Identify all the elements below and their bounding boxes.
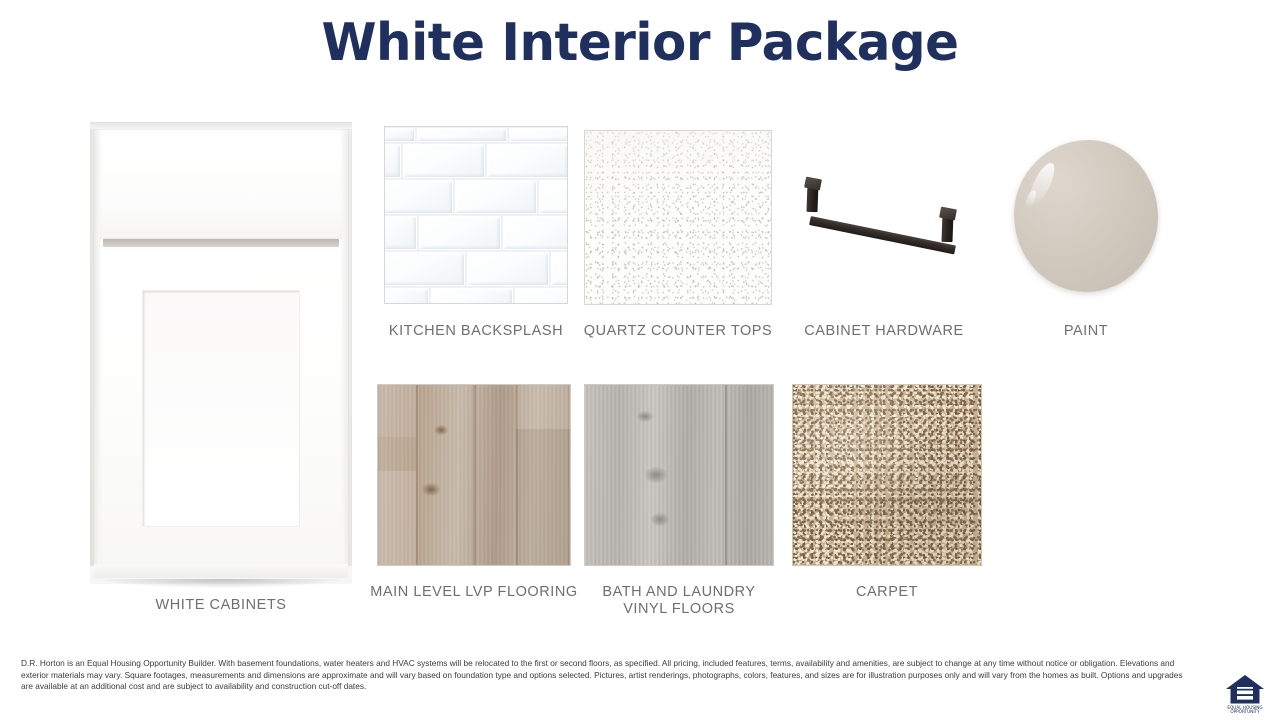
cabinet-drop-shadow (98, 579, 344, 588)
swatch-label-cabinet-hardware: CABINET HARDWARE (769, 323, 999, 340)
swatch-label-bath-and-laundry-vinyl-floors: BATH AND LAUNDRY VINYL FLOORS (564, 584, 794, 618)
pull-bar (809, 216, 956, 254)
swatch-label-quartz-counter-tops: QUARTZ COUNTER TOPS (563, 323, 793, 340)
legal-disclaimer: D.R. Horton is an Equal Housing Opportun… (21, 658, 1196, 693)
quartz-sample-image (584, 130, 772, 305)
material-swatch-board: WHITE CABINETS (0, 0, 1280, 640)
swatch-kitchen-backsplash: KITCHEN BACKSPLASH (384, 126, 568, 304)
paint-drop-image (1014, 140, 1158, 292)
carpet-image (792, 384, 982, 566)
cabinet-top-edge (90, 122, 352, 129)
quartz-sheen-overlay (585, 131, 771, 304)
swatch-paint: PAINT (1014, 140, 1158, 305)
svg-text:OPPORTUNITY: OPPORTUNITY (1230, 709, 1260, 714)
swatch-label-kitchen-backsplash: KITCHEN BACKSPLASH (361, 323, 591, 340)
swatch-quartz-counter-tops: QUARTZ COUNTER TOPS (584, 130, 772, 305)
cabinet-left-shading (90, 129, 102, 566)
vinyl-flooring-image (584, 384, 774, 566)
carpet-tone-overlay (793, 385, 981, 565)
cabinet-drawer-front (100, 134, 342, 238)
cabinet-right-shading (340, 129, 352, 566)
swatch-label-paint: PAINT (971, 323, 1201, 340)
swatch-label-carpet: CARPET (772, 584, 1002, 601)
cabinet-pull-image (798, 170, 970, 280)
swatch-cabinet-hardware: CABINET HARDWARE (798, 170, 970, 310)
cabinet-reveal-gap (103, 239, 339, 247)
vinyl-wood-texture (585, 385, 773, 565)
swatch-bath-and-laundry-vinyl-floors: BATH AND LAUNDRY VINYL FLOORS (584, 384, 774, 566)
lvp-flooring-image (377, 384, 571, 566)
equal-housing-opportunity-logo: EQUAL HOUSING OPPORTUNITY (1223, 670, 1267, 714)
swatch-label-white-cabinets: WHITE CABINETS (106, 597, 336, 614)
subway-tile-image (384, 126, 568, 304)
cabinet-toe-kick (94, 564, 348, 578)
cabinet-door-front (100, 250, 342, 572)
swatch-white-cabinets: WHITE CABINETS (90, 122, 352, 584)
white-cabinet-image (90, 122, 352, 584)
paint-drop-body (1014, 140, 1158, 292)
cabinet-recessed-panel (142, 290, 300, 527)
swatch-label-main-level-lvp-flooring: MAIN LEVEL LVP FLOORING (359, 584, 589, 601)
swatch-main-level-lvp-flooring: MAIN LEVEL LVP FLOORING (377, 384, 571, 566)
swatch-carpet: CARPET (792, 384, 982, 566)
